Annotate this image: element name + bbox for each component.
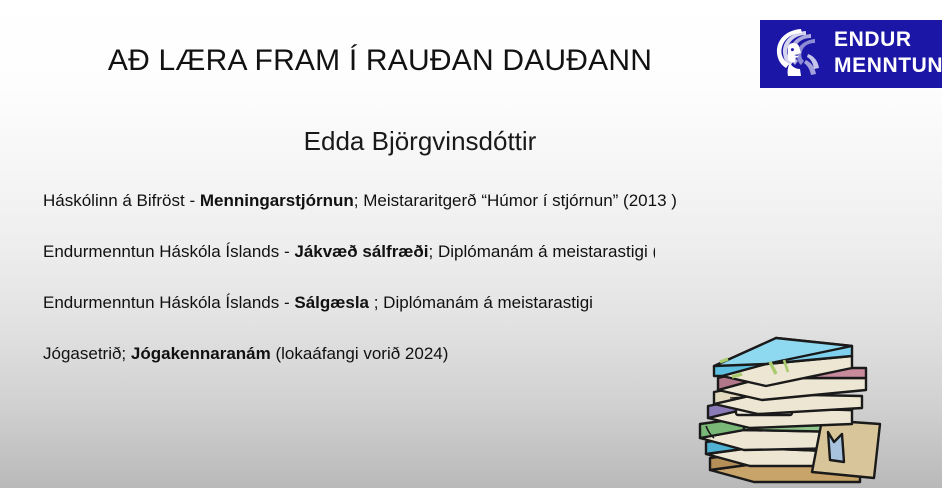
slide-subtitle-author: Edda Björgvinsdóttir bbox=[0, 126, 840, 157]
body-line-emphasis: Jákvæð sálfræði bbox=[294, 242, 428, 261]
body-line-suffix: ; Diplómanám á meistarastigi bbox=[369, 293, 593, 312]
body-line-prefix: Jógasetrið; bbox=[43, 344, 131, 363]
slide-canvas: ENDUR MENNTUN AÐ LÆRA FRAM Í RAUÐAN DAUÐ… bbox=[0, 0, 942, 488]
body-line-emphasis: Jógakennaranám bbox=[131, 344, 271, 363]
head-profile-emblem-icon bbox=[768, 24, 828, 84]
slide-title: AÐ LÆRA FRAM Í RAUÐAN DAUÐANN bbox=[0, 44, 760, 78]
body-line-suffix: (lokaáfangi vorið 2024) bbox=[271, 344, 449, 363]
logo-line-2: MENNTUN bbox=[834, 53, 942, 79]
body-line-prefix: Háskólinn á Bifröst - bbox=[43, 191, 200, 210]
body-line-suffix: ; Meistararitgerð “Húmor í stjórnun” (20… bbox=[354, 191, 677, 210]
body-line-suffix: ; Diplómanám á meistarastigi (201 bbox=[429, 242, 655, 261]
body-line: Endurmenntun Háskóla Íslands - Jákvæð sá… bbox=[43, 241, 655, 263]
body-line-emphasis: Sálgæsla bbox=[294, 293, 369, 312]
endurmenntun-logo[interactable]: ENDUR MENNTUN bbox=[760, 20, 942, 88]
body-line: Endurmenntun Háskóla Íslands - Sálgæsla … bbox=[43, 292, 923, 314]
stack-of-books-illustration bbox=[684, 332, 894, 488]
body-line-prefix: Endurmenntun Háskóla Íslands - bbox=[43, 293, 294, 312]
body-line-prefix: Endurmenntun Háskóla Íslands - bbox=[43, 242, 294, 261]
logo-line-1: ENDUR bbox=[834, 27, 942, 53]
body-line: Háskólinn á Bifröst - Menningarstjórnun;… bbox=[43, 190, 923, 212]
body-line-emphasis: Menningarstjórnun bbox=[200, 191, 354, 210]
logo-wordmark: ENDUR MENNTUN bbox=[834, 27, 942, 79]
